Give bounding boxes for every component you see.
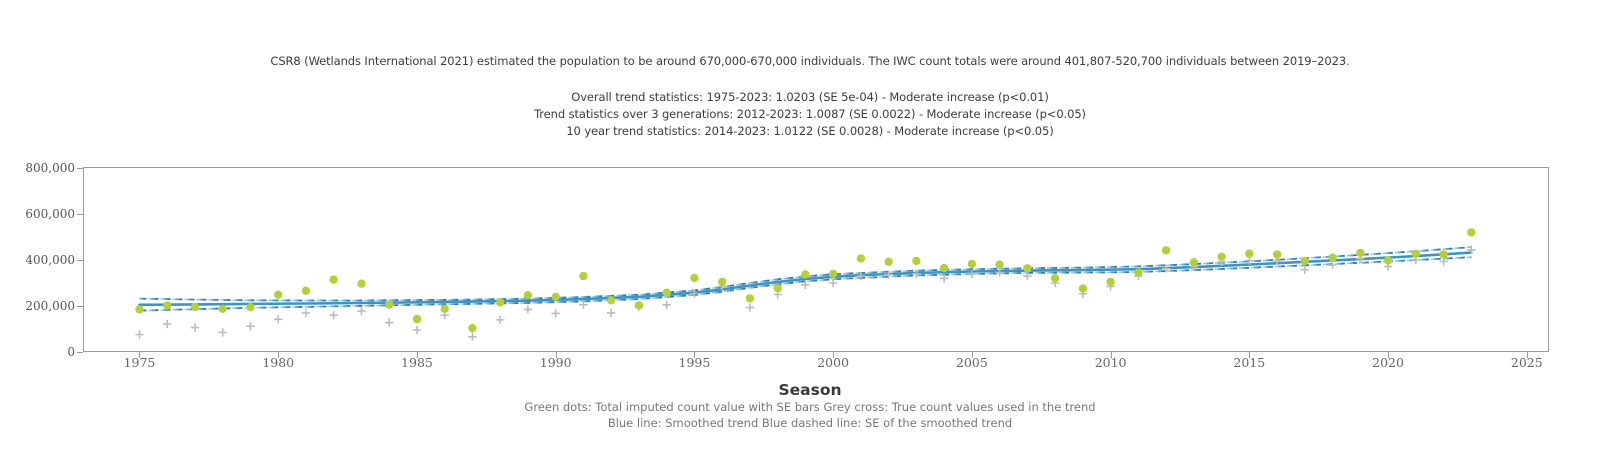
x-axis-tick-mark bbox=[417, 352, 418, 358]
plot-canvas bbox=[0, 150, 1620, 365]
y-axis-tick-label: 400,000 bbox=[0, 253, 75, 267]
x-axis-tick-mark bbox=[139, 352, 140, 358]
x-axis-tick-mark bbox=[1527, 352, 1528, 358]
legend-markers: Green dots: Total imputed count value wi… bbox=[0, 400, 1620, 414]
x-axis-tick-mark bbox=[972, 352, 973, 358]
y-axis-tick-mark bbox=[77, 168, 83, 169]
overall-trend-statistics: Overall trend statistics: 1975-2023: 1.0… bbox=[0, 90, 1620, 104]
y-axis-tick-label: 600,000 bbox=[0, 207, 75, 221]
three-generation-trend-statistics: Trend statistics over 3 generations: 201… bbox=[0, 107, 1620, 121]
population-trend-chart: 0200,000400,000600,000800,00019751980198… bbox=[0, 150, 1620, 365]
chart-page: CSR8 (Wetlands International 2021) estim… bbox=[0, 0, 1620, 456]
x-axis-tick-mark bbox=[1388, 352, 1389, 358]
y-axis-tick-mark bbox=[77, 214, 83, 215]
x-axis-tick-mark bbox=[556, 352, 557, 358]
x-axis-tick-mark bbox=[694, 352, 695, 358]
ten-year-trend-statistics: 10 year trend statistics: 2014-2023: 1.0… bbox=[0, 124, 1620, 138]
x-axis-tick-mark bbox=[1111, 352, 1112, 358]
legend-trend: Blue line: Smoothed trend Blue dashed li… bbox=[0, 416, 1620, 430]
y-axis-tick-mark bbox=[77, 352, 83, 353]
population-estimate-caption: CSR8 (Wetlands International 2021) estim… bbox=[0, 54, 1620, 68]
x-axis-title: Season bbox=[0, 381, 1620, 399]
x-axis-tick-mark bbox=[278, 352, 279, 358]
y-axis-tick-mark bbox=[77, 306, 83, 307]
y-axis-tick-label: 0 bbox=[0, 345, 75, 359]
x-axis-tick-mark bbox=[1249, 352, 1250, 358]
x-axis-tick-mark bbox=[833, 352, 834, 358]
y-axis-tick-mark bbox=[77, 260, 83, 261]
y-axis-tick-label: 800,000 bbox=[0, 161, 75, 175]
y-axis-tick-label: 200,000 bbox=[0, 299, 75, 313]
